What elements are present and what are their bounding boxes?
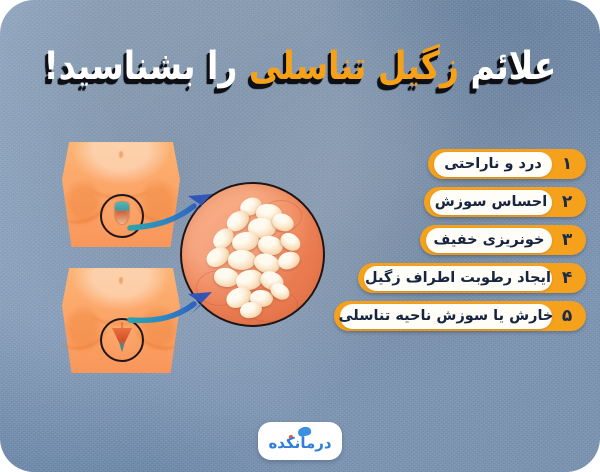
infographic-poster: علائم زگیل تناسلی را بشناسید!	[0, 0, 600, 472]
title-part-2: زگیل تناسلی	[237, 42, 459, 88]
symptom-row[interactable]: ۱درد و ناراحتی	[334, 149, 586, 179]
symptom-row[interactable]: ۲احساس سوزش	[334, 187, 586, 217]
symptom-label: خونریزی خفیف	[434, 233, 545, 248]
illustration-group	[52, 140, 342, 385]
arrow-tail-upper	[130, 206, 194, 228]
symptom-label-pill: درد و ناراحتی	[434, 152, 552, 177]
symptom-number-badge: ۳	[552, 228, 582, 252]
title-part-1: علائم	[459, 42, 556, 88]
symptom-row[interactable]: ۵خارش یا سوزش ناحیه تناسلی	[334, 301, 586, 331]
symptom-label-pill: خارش یا سوزش ناحیه تناسلی	[340, 304, 552, 329]
title-container: علائم زگیل تناسلی را بشناسید!	[0, 34, 600, 96]
brand-logo[interactable]: درمانکده	[258, 422, 342, 460]
brand-name: درمانکده	[268, 436, 331, 451]
symptom-label: خارش یا سوزش ناحیه تناسلی	[339, 309, 554, 324]
symptom-list: ۱درد و ناراحتی۲احساس سوزش۳خونریزی خفیف۴ا…	[334, 149, 586, 339]
symptom-label: احساس سوزش	[435, 195, 547, 210]
symptom-label: درد و ناراحتی	[444, 157, 542, 172]
symptom-row[interactable]: ۳خونریزی خفیف	[334, 225, 586, 255]
symptom-number-badge: ۵	[552, 304, 582, 328]
symptom-row[interactable]: ۴ایجاد رطوبت اطراف زگیل	[334, 263, 586, 293]
arrow-group	[52, 140, 342, 385]
symptom-label-pill: احساس سوزش	[430, 190, 552, 215]
page-title: علائم زگیل تناسلی را بشناسید!	[44, 46, 557, 85]
arrow-tail-lower	[130, 304, 194, 320]
symptom-label-pill: خونریزی خفیف	[426, 228, 552, 253]
symptom-label-pill: ایجاد رطوبت اطراف زگیل	[364, 266, 552, 291]
symptom-number-badge: ۴	[552, 266, 582, 290]
symptom-number-badge: ۱	[552, 152, 582, 176]
symptom-label: ایجاد رطوبت اطراف زگیل	[365, 271, 551, 286]
symptom-number-badge: ۲	[552, 190, 582, 214]
title-part-3: را بشناسید!	[44, 42, 238, 88]
